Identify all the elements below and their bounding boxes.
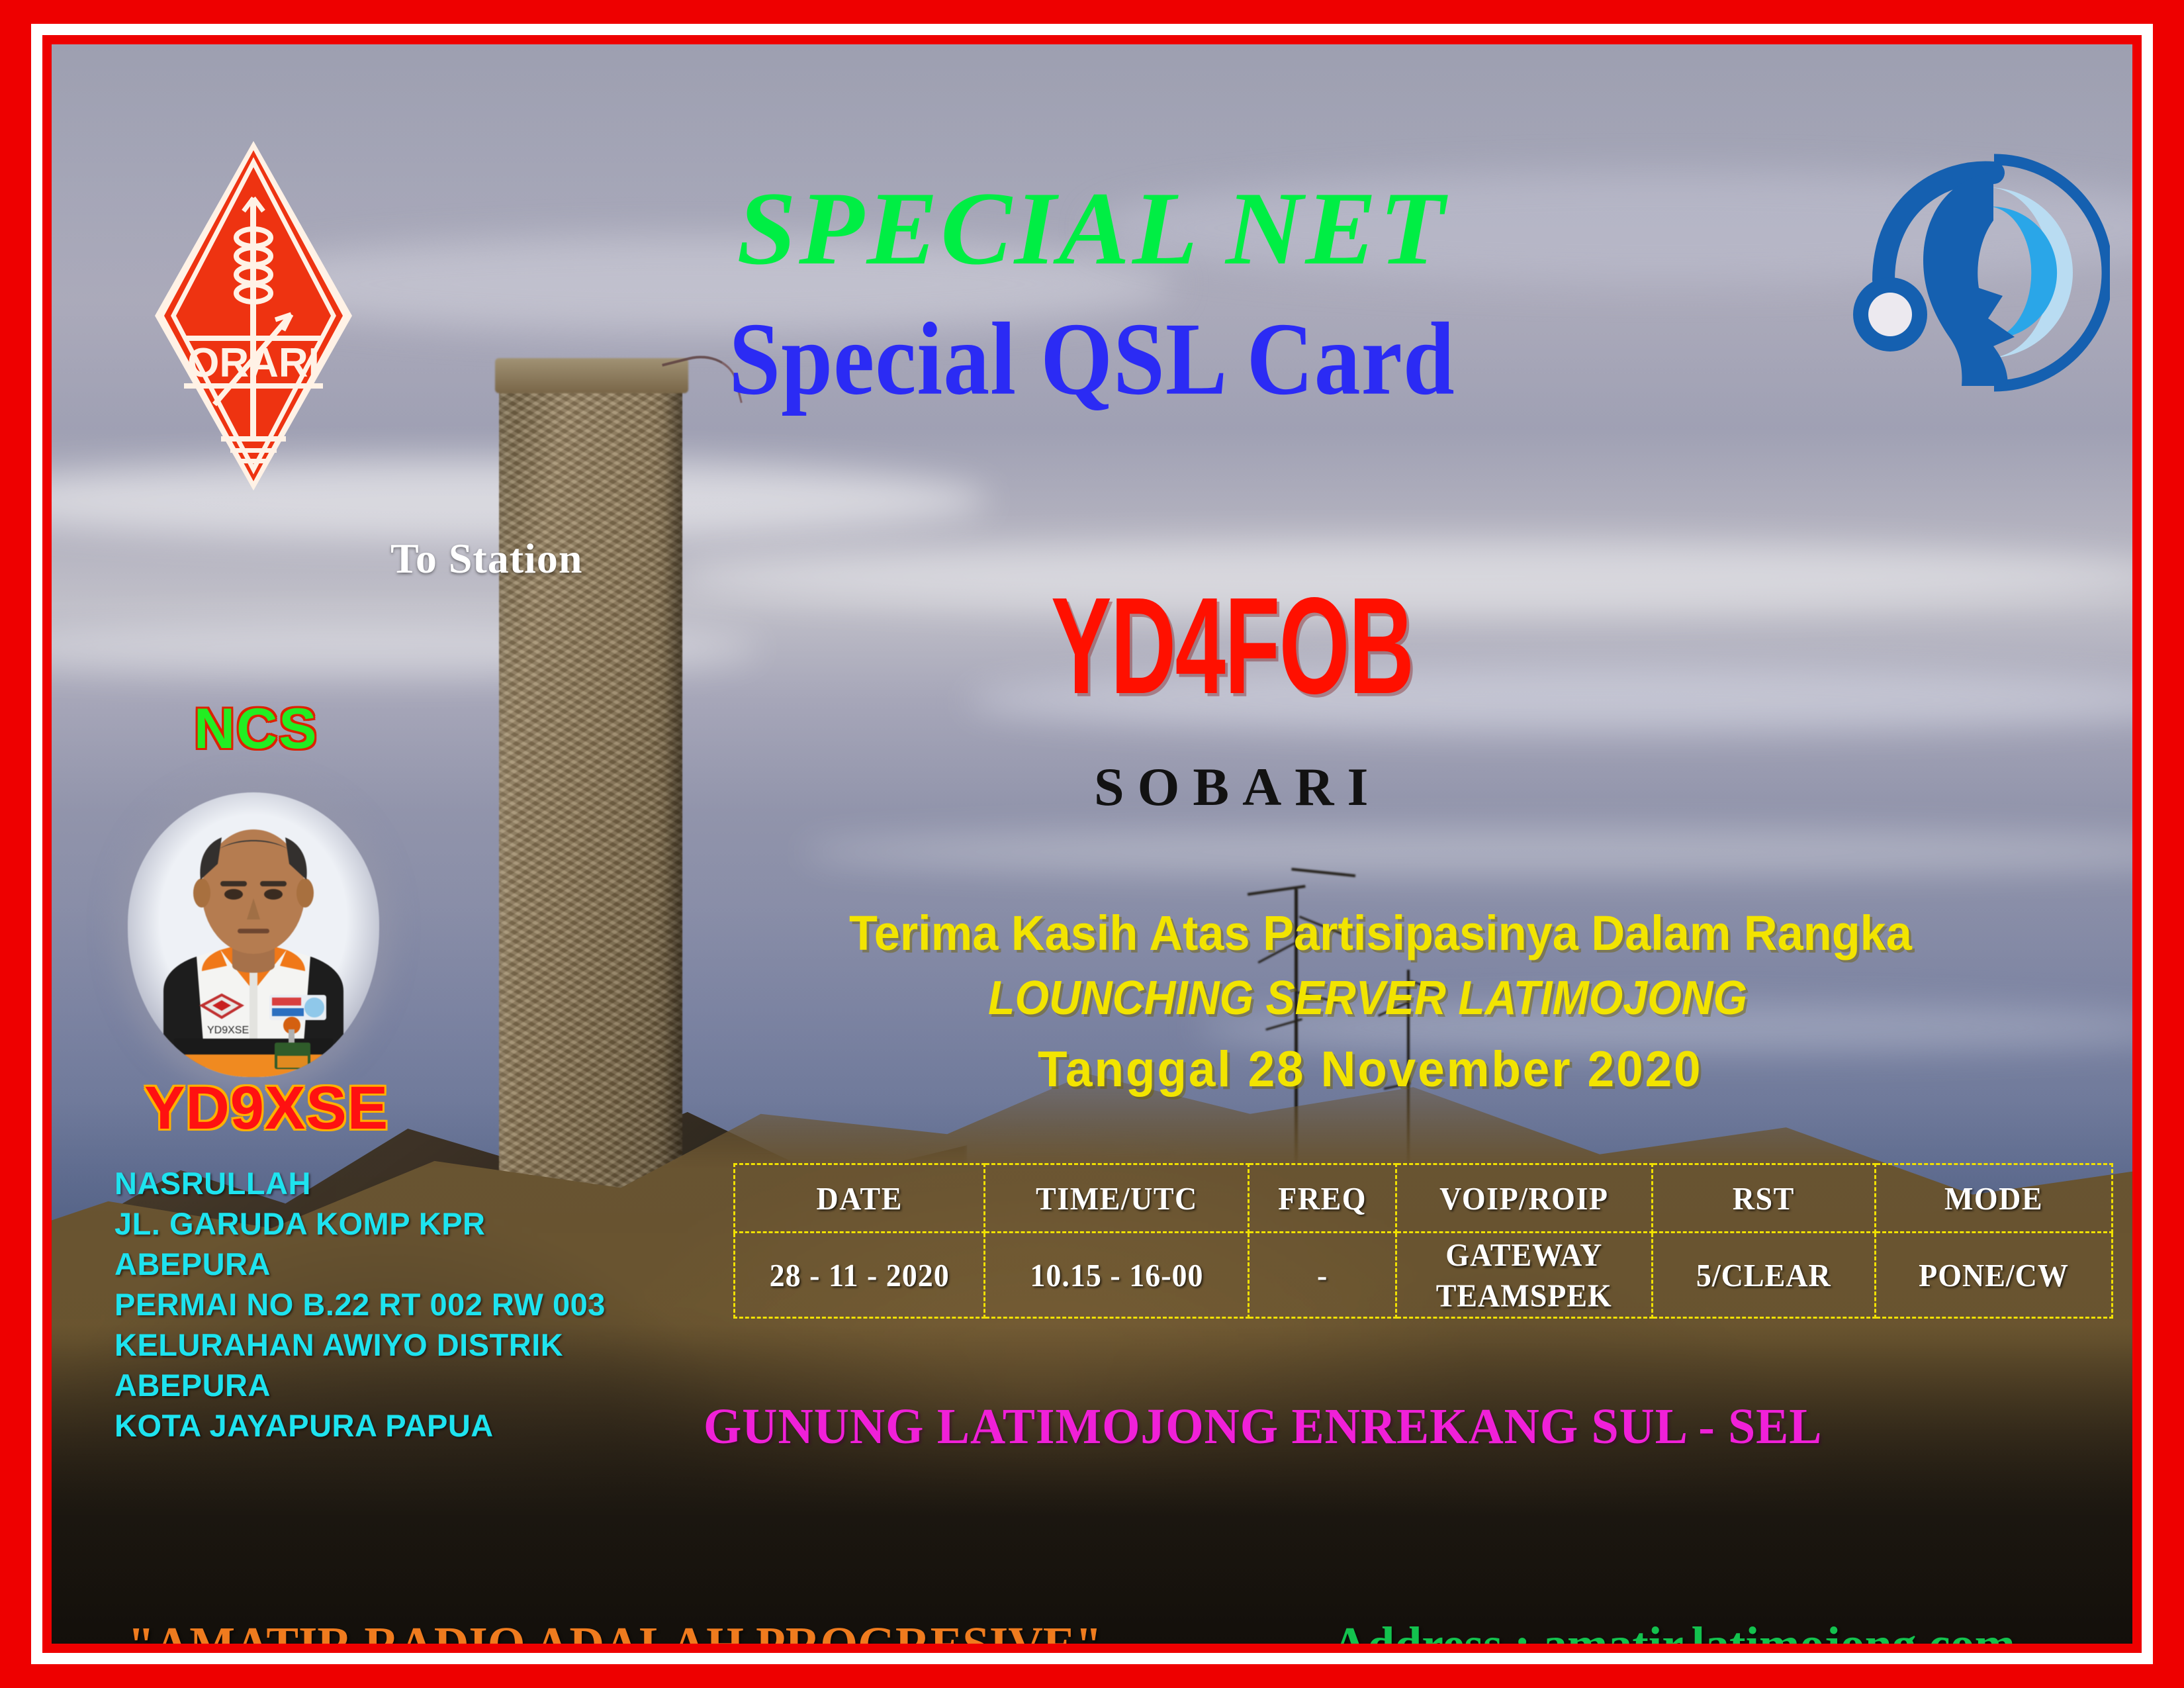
address-line: KELURAHAN AWIYO DISTRIK — [114, 1325, 606, 1365]
column-header-date: DATE — [735, 1162, 985, 1234]
to-station-label: To Station — [390, 534, 582, 583]
address-line: ABEPURA — [114, 1244, 606, 1284]
cell-date: 28 - 11 - 2020 — [735, 1230, 985, 1321]
location-line: GUNUNG LATIMOJONG ENREKANG SUL - SEL — [704, 1398, 1822, 1456]
cell-voip: GATEWAY TEAMSPEK — [1396, 1230, 1652, 1321]
avatar: YD9XSE — [128, 792, 379, 1077]
column-header-freq: FREQ — [1249, 1162, 1396, 1234]
page-title: SPECIAL NET — [52, 169, 2132, 289]
address-line: NASRULLAH — [114, 1163, 606, 1203]
ncs-callsign: YD9XSE — [144, 1074, 388, 1143]
column-header-rst: RST — [1652, 1162, 1875, 1234]
cell-mode: PONE/CW — [1876, 1230, 2113, 1321]
page-subtitle: Special QSL Card — [52, 299, 2132, 418]
column-header-mode: MODE — [1876, 1162, 2113, 1234]
address-line: PERMAI NO B.22 RT 002 RW 003 — [114, 1284, 606, 1325]
cell-time: 10.15 - 16-00 — [985, 1230, 1249, 1321]
table-row: 28 - 11 - 2020 10.15 - 16-00 - GATEWAY T… — [735, 1233, 2113, 1318]
event-line: LOUNCHING SERVER LATIMOJONG — [988, 971, 1747, 1025]
cell-rst: 5/CLEAR — [1652, 1230, 1875, 1321]
cell-freq: - — [1249, 1230, 1396, 1321]
uniform-callsign-text: YD9XSE — [207, 1025, 249, 1036]
web-address-text: Address : amatir.latimojong.com — [1332, 1617, 2015, 1644]
cell-voip-line2: TEAMSPEK — [1398, 1275, 1651, 1315]
qso-log-table: DATE TIME/UTC FREQ VOIP/ROIP RST MODE 28… — [733, 1163, 2113, 1319]
address-line: KOTA JAYAPURA PAPUA — [114, 1405, 606, 1446]
ncs-label: NCS — [194, 696, 318, 762]
cell-voip-line1: GATEWAY — [1398, 1235, 1651, 1275]
address-line: JL. GARUDA KOMP KPR — [114, 1203, 606, 1244]
card-background-photo: ORARI — [52, 44, 2132, 1644]
event-date-line: Tanggal 28 November 2020 — [1038, 1041, 1702, 1098]
address-line: ABEPURA — [114, 1365, 606, 1405]
qsl-card: ORARI — [0, 0, 2184, 1688]
column-header-voip: VOIP/ROIP — [1396, 1162, 1652, 1234]
sender-address: NASRULLAH JL. GARUDA KOMP KPR ABEPURA PE… — [114, 1163, 606, 1446]
recipient-callsign: YD4FOB — [1051, 567, 1413, 725]
motto-text: "AMATIR RADIO ADALAH PROGRESIVE" — [128, 1617, 1102, 1644]
table-header-row: DATE TIME/UTC FREQ VOIP/ROIP RST MODE — [735, 1164, 2113, 1233]
recipient-station-name: SOBARI — [1094, 756, 1381, 818]
thanks-line: Terima Kasih Atas Partisipasinya Dalam R… — [849, 905, 1912, 961]
column-header-time: TIME/UTC — [985, 1162, 1249, 1234]
